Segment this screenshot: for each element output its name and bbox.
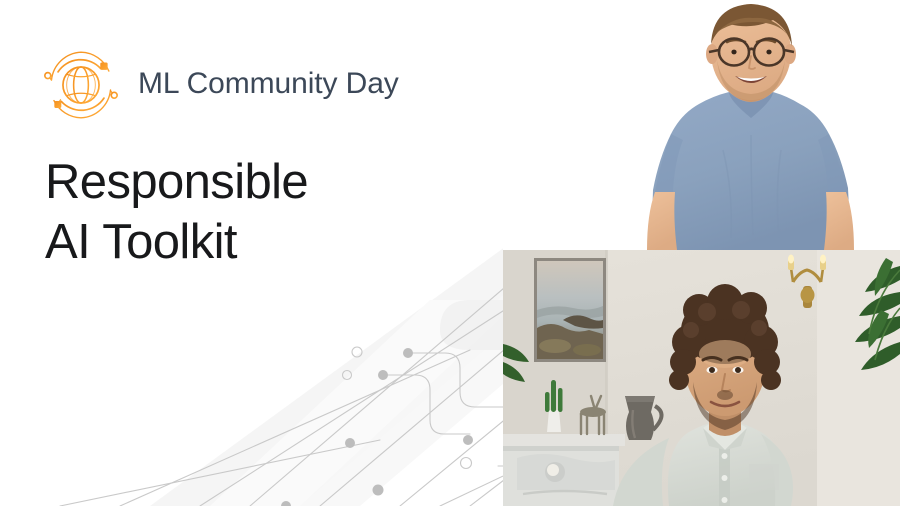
presenter-two-video-tile[interactable]: [503, 250, 900, 506]
page-title-line-1: Responsible: [45, 152, 475, 212]
page-title: Responsible AI Toolkit: [45, 152, 475, 272]
globe-orbit-icon: [40, 44, 122, 126]
slide-root: ML Community Day Responsible AI Toolkit: [0, 0, 900, 506]
brand-wordmark: ML Community Day: [138, 69, 399, 101]
presenter-one-cutout: [603, 0, 900, 250]
page-title-line-2: AI Toolkit: [45, 212, 475, 272]
brand-lockup: ML Community Day: [40, 44, 399, 126]
